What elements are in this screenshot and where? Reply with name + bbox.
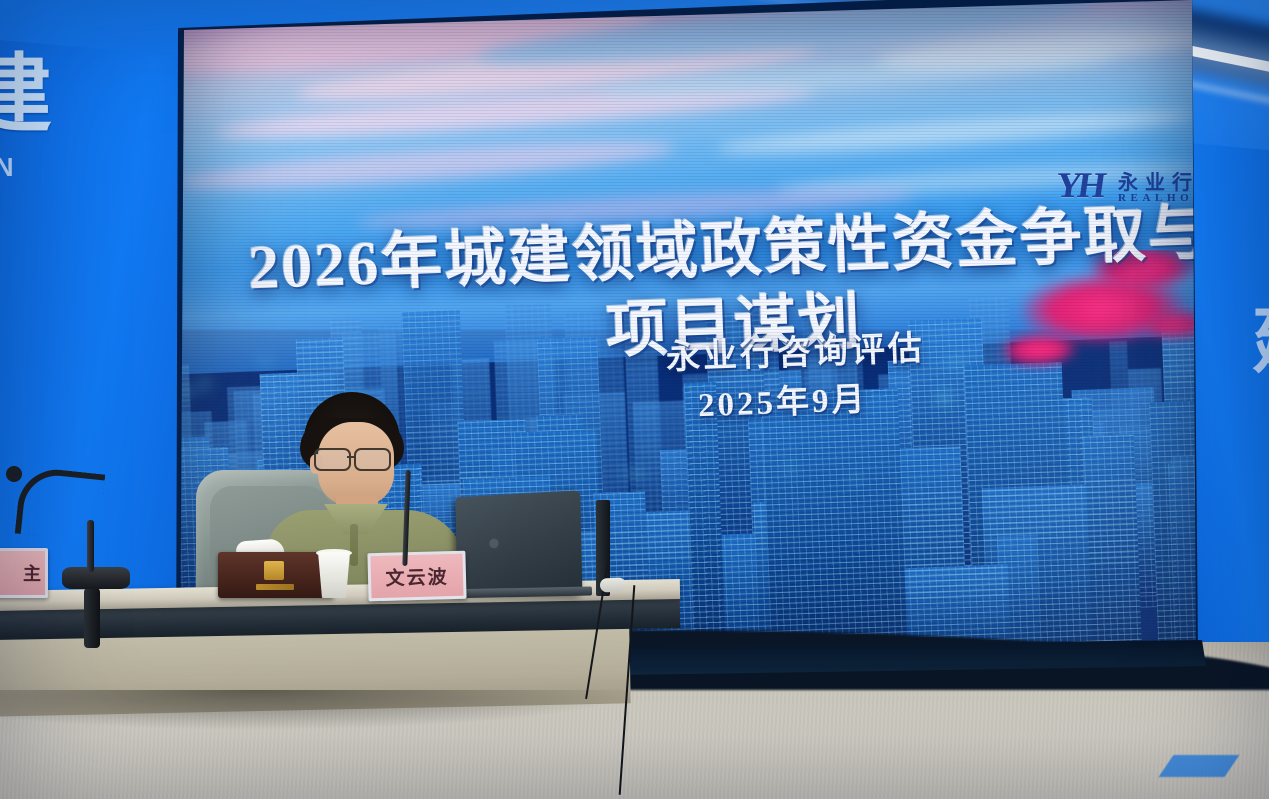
microphone-head-icon [6, 466, 22, 482]
slide-footer: 永业行咨询评估 2025年9月 [666, 330, 925, 426]
paper-cup [318, 552, 350, 598]
nameplate-secondary: 主 [0, 548, 48, 598]
nameplate-primary-label: 文云波 [385, 562, 449, 591]
microphone-base [62, 567, 130, 589]
laptop[interactable] [455, 490, 582, 595]
desk-shadow [0, 690, 640, 730]
glasses-icon [314, 448, 398, 468]
left-wall-logo: 建 AN [0, 48, 60, 186]
wall-logo-latin: AN [0, 152, 20, 183]
tissue-box [218, 552, 334, 598]
conference-room-scene: 建 AN 建 YH 永业行 REALHOM 2026年城建领域政策性资金争取与 … [0, 0, 1269, 799]
nameplate-primary: 文云波 [367, 551, 466, 602]
nameplate-secondary-label: 主 [23, 560, 41, 586]
slide-footer-line-1: 永业行咨询评估 [665, 325, 926, 382]
wall-logo-glyph: 建 [0, 48, 40, 144]
slide-footer-line-2: 2025年9月 [697, 374, 926, 430]
tissue-box-text [256, 584, 294, 590]
right-wall-logo-glyph: 建 [1252, 300, 1269, 396]
mouse[interactable] [600, 578, 626, 593]
laptop-logo-icon [489, 538, 499, 548]
brand-name-cn: 永业行 [1118, 166, 1196, 195]
microphone-leg [84, 588, 100, 648]
tissue-box-emblem-icon [264, 561, 284, 580]
